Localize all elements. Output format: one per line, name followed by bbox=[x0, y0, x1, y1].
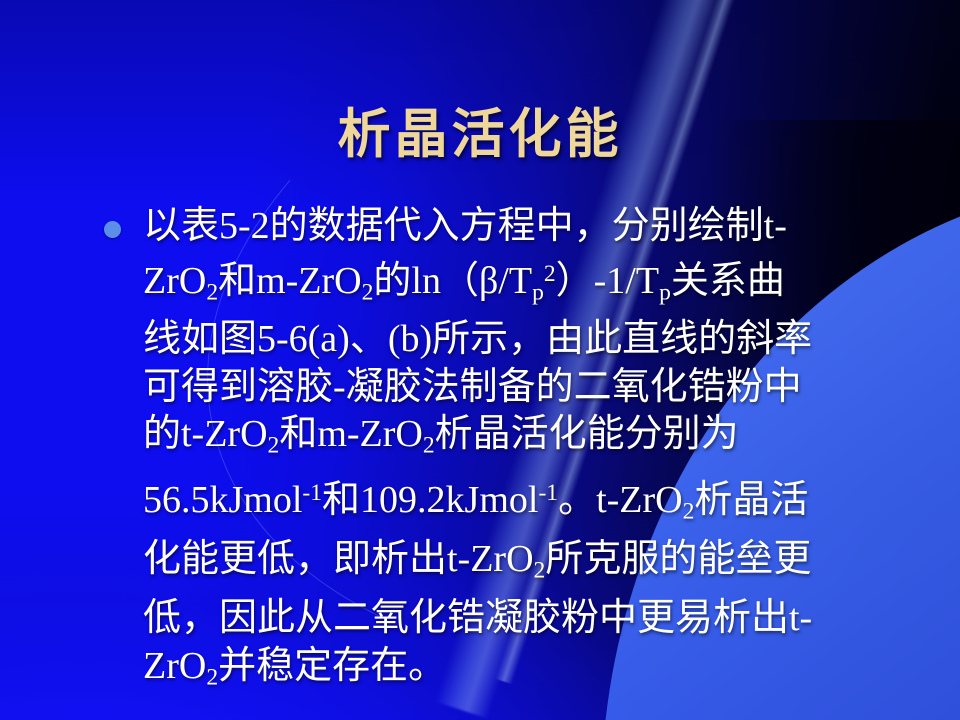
text-sub: 2 bbox=[534, 558, 546, 584]
paragraph-line-1: 以表5-2的数据代入方程中，分别绘制t- bbox=[143, 203, 924, 251]
paragraph-line-9: ZrO2并稳定存在。 bbox=[143, 643, 924, 702]
text-sub: p bbox=[659, 279, 671, 305]
presentation-slide: 析晶活化能 以表5-2的数据代入方程中，分别绘制t-ZrO2和m-ZrO2的ln… bbox=[0, 0, 960, 720]
slide-content: 析晶活化能 以表5-2的数据代入方程中，分别绘制t-ZrO2和m-ZrO2的ln… bbox=[0, 0, 960, 720]
text-sup: 2 bbox=[544, 261, 556, 287]
paragraph-line-3: 线如图5-6(a)、(b)所示，由此直线的斜率 bbox=[143, 316, 924, 364]
paragraph-line-4: 可得到溶胶-凝胶法制备的二氧化锆粉中 bbox=[143, 364, 924, 412]
text-sub: 2 bbox=[268, 433, 280, 459]
paragraph-line-2: ZrO2和m-ZrO2的ln（β/Tp2）-1/Tp关系曲 bbox=[143, 251, 924, 317]
text-sub: 2 bbox=[206, 279, 218, 305]
text-sup: -1 bbox=[302, 480, 322, 506]
text-sub: 2 bbox=[362, 279, 374, 305]
text-sub: 2 bbox=[206, 665, 218, 691]
paragraph-line-8: 低，因此从二氧化锆凝胶粉中更易析出t- bbox=[143, 595, 924, 643]
slide-title: 析晶活化能 bbox=[0, 92, 960, 168]
text-sub: 2 bbox=[423, 433, 435, 459]
text-sub: p bbox=[532, 279, 544, 305]
text-sub: 2 bbox=[683, 499, 695, 525]
body-paragraph: 以表5-2的数据代入方程中，分别绘制t-ZrO2和m-ZrO2的ln（β/Tp2… bbox=[143, 203, 924, 702]
slide-body: 以表5-2的数据代入方程中，分别绘制t-ZrO2和m-ZrO2的ln（β/Tp2… bbox=[104, 203, 924, 702]
text-sup: -1 bbox=[538, 480, 558, 506]
bullet-marker-icon bbox=[104, 221, 121, 238]
paragraph-line-5: 的t-ZrO2和m-ZrO2析晶活化能分别为 bbox=[143, 411, 924, 470]
paragraph-line-7: 化能更低，即析出t-ZrO2所克服的能垒更 bbox=[143, 536, 924, 595]
paragraph-line-6: 56.5kJmol-1和109.2kJmol-1。t-ZrO2析晶活 bbox=[143, 470, 924, 536]
